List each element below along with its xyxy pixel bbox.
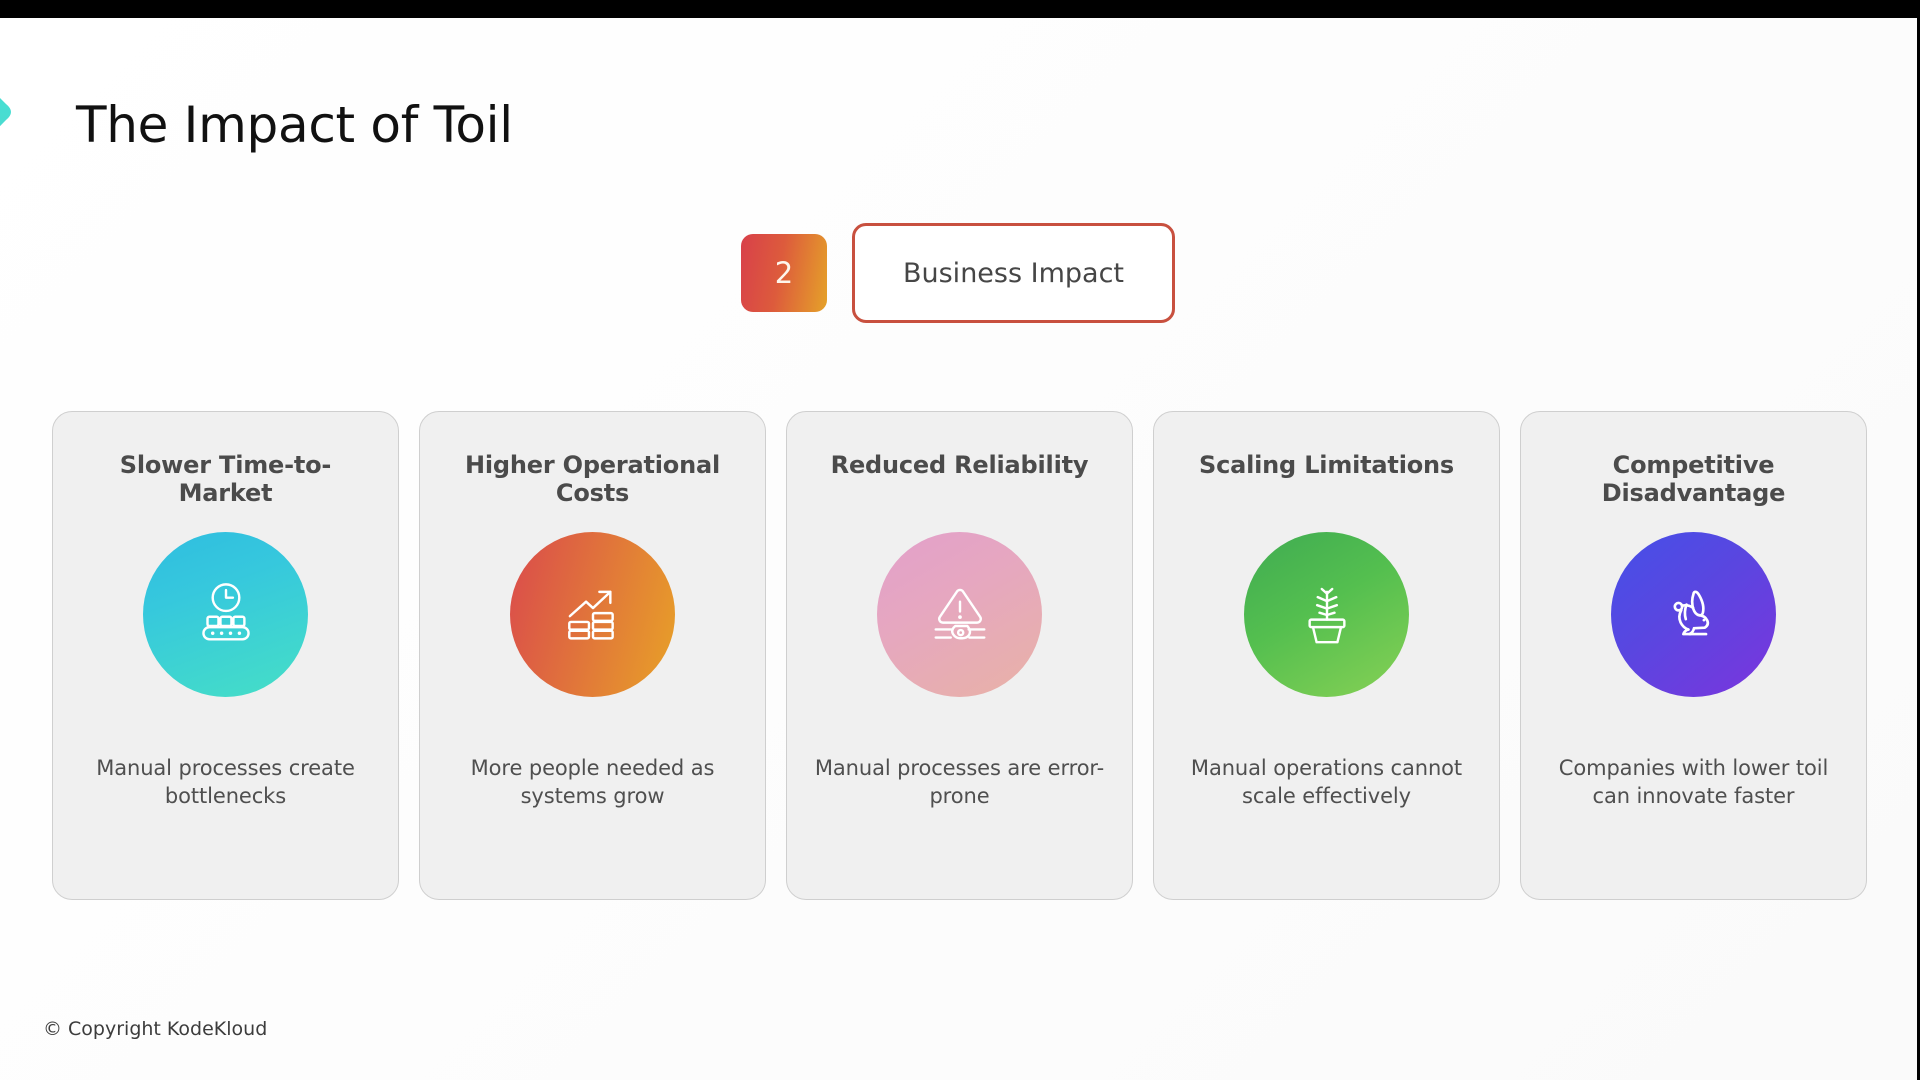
card-title: Competitive Disadvantage — [1543, 452, 1844, 510]
card-description: More people needed as systems grow — [442, 755, 743, 811]
impact-card-grid: Slower Time-to-Market — [52, 411, 1867, 900]
footer-copyright: © Copyright KodeKloud — [43, 1018, 267, 1040]
card-title: Reduced Reliability — [831, 452, 1089, 510]
card-description: Manual operations cannot scale effective… — [1176, 755, 1477, 811]
impact-card: Higher Operational Costs — [419, 411, 766, 900]
rising-chart-coins-icon — [556, 578, 630, 652]
card-description: Companies with lower toil can innovate f… — [1543, 755, 1844, 811]
card-icon-circle — [1611, 532, 1776, 697]
potted-plant-icon — [1290, 578, 1364, 652]
kodekloud-chevron-logo — [0, 40, 58, 185]
card-icon-circle — [143, 532, 308, 697]
card-icon-circle — [877, 532, 1042, 697]
presentation-slide: The Impact of Toil 2 Business Impact Slo… — [0, 18, 1917, 1080]
impact-card: Scaling Limitations — [1153, 411, 1500, 900]
card-title: Slower Time-to-Market — [75, 452, 376, 510]
card-description: Manual processes are error-prone — [809, 755, 1110, 811]
impact-card: Reduced Reliability — [786, 411, 1133, 900]
card-icon-circle — [1244, 532, 1409, 697]
card-title: Higher Operational Costs — [442, 452, 743, 510]
section-label-pill: Business Impact — [852, 223, 1175, 323]
card-title: Scaling Limitations — [1199, 452, 1454, 510]
section-number-badge: 2 — [741, 234, 827, 312]
card-description: Manual processes create bottlenecks — [75, 755, 376, 811]
card-icon-circle — [510, 532, 675, 697]
rabbit-icon — [1657, 578, 1731, 652]
clock-conveyor-belt-icon — [189, 578, 263, 652]
slide-frame: The Impact of Toil 2 Business Impact Slo… — [0, 0, 1920, 1080]
warning-broken-line-icon — [923, 578, 997, 652]
page-title: The Impact of Toil — [76, 96, 513, 154]
section-header: 2 Business Impact — [741, 230, 1175, 316]
impact-card: Competitive Disadvantage — [1520, 411, 1867, 900]
impact-card: Slower Time-to-Market — [52, 411, 399, 900]
